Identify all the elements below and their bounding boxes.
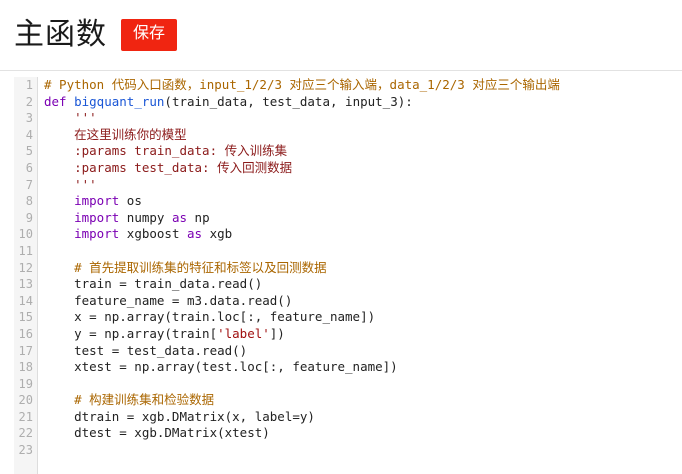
- code-line[interactable]: :params test_data: 传入回测数据: [44, 160, 682, 177]
- code-token-docstring: ''': [44, 177, 97, 192]
- code-token-string: 'label': [217, 326, 270, 341]
- code-token-keyword: as: [172, 210, 187, 225]
- line-number: 18: [14, 359, 33, 376]
- line-number: 6: [14, 160, 33, 177]
- code-token-keyword: import: [74, 193, 119, 208]
- code-line[interactable]: :params train_data: 传入训练集: [44, 143, 682, 160]
- code-token-plain: [67, 94, 75, 109]
- line-number: 12: [14, 260, 33, 277]
- code-token-plain: dtrain = xgb.DMatrix(x, label=y): [44, 409, 315, 424]
- code-line[interactable]: dtrain = xgb.DMatrix(x, label=y): [44, 409, 682, 426]
- code-token-plain: y = np.array(train[: [44, 326, 217, 341]
- code-token-plain: np: [187, 210, 210, 225]
- code-token-comment: # 首先提取训练集的特征和标签以及回测数据: [44, 260, 327, 275]
- code-token-keyword: import: [74, 226, 119, 241]
- line-number: 3: [14, 110, 33, 127]
- code-token-plain: xtest = np.array(test.loc[:, feature_nam…: [44, 359, 398, 374]
- code-line[interactable]: xtest = np.array(test.loc[:, feature_nam…: [44, 359, 682, 376]
- line-number: 5: [14, 143, 33, 160]
- code-token-plain: train = train_data.read(): [44, 276, 262, 291]
- code-line[interactable]: def bigquant_run(train_data, test_data, …: [44, 94, 682, 111]
- code-token-keyword: def: [44, 94, 67, 109]
- line-number: 16: [14, 326, 33, 343]
- code-token-plain: numpy: [119, 210, 172, 225]
- code-token-keyword: as: [187, 226, 202, 241]
- code-token-plain: [44, 226, 74, 241]
- code-token-docstring: ''': [44, 110, 97, 125]
- code-line[interactable]: [44, 376, 682, 393]
- line-number: 20: [14, 392, 33, 409]
- line-number: 9: [14, 210, 33, 227]
- code-line[interactable]: 在这里训练你的模型: [44, 127, 682, 144]
- code-token-plain: test = test_data.read(): [44, 343, 247, 358]
- code-line[interactable]: x = np.array(train.loc[:, feature_name]): [44, 309, 682, 326]
- line-number: 13: [14, 276, 33, 293]
- code-token-docstring: :params test_data: 传入回测数据: [44, 160, 292, 175]
- line-number-gutter: 1234567891011121314151617181920212223: [14, 77, 38, 474]
- code-token-plain: (train_data, test_data, input_3):: [164, 94, 412, 109]
- code-token-plain: [44, 193, 74, 208]
- code-token-docstring: 在这里训练你的模型: [44, 127, 187, 142]
- code-token-plain: xgboost: [119, 226, 187, 241]
- code-line[interactable]: train = train_data.read(): [44, 276, 682, 293]
- code-line[interactable]: [44, 442, 682, 459]
- code-line[interactable]: [44, 243, 682, 260]
- code-editor[interactable]: 1234567891011121314151617181920212223 # …: [0, 70, 682, 474]
- line-number: 1: [14, 77, 33, 94]
- code-editor-body[interactable]: 1234567891011121314151617181920212223 # …: [14, 71, 682, 474]
- save-button[interactable]: 保存: [121, 19, 177, 51]
- code-line[interactable]: # Python 代码入口函数，input_1/2/3 对应三个输入端，data…: [44, 77, 682, 94]
- code-token-plain: ]): [270, 326, 285, 341]
- editor-header: 主函数 保存: [0, 0, 682, 70]
- code-line[interactable]: import numpy as np: [44, 210, 682, 227]
- code-token-plain: [44, 210, 74, 225]
- code-line[interactable]: y = np.array(train['label']): [44, 326, 682, 343]
- code-token-keyword: import: [74, 210, 119, 225]
- line-number: 22: [14, 425, 33, 442]
- line-number: 15: [14, 309, 33, 326]
- line-number: 11: [14, 243, 33, 260]
- line-number: 2: [14, 94, 33, 111]
- code-token-comment: # Python 代码入口函数，input_1/2/3 对应三个输入端，data…: [44, 77, 560, 92]
- code-token-comment: # 构建训练集和检验数据: [44, 392, 214, 407]
- code-line[interactable]: # 构建训练集和检验数据: [44, 392, 682, 409]
- code-token-function: bigquant_run: [74, 94, 164, 109]
- code-token-plain: x = np.array(train.loc[:, feature_name]): [44, 309, 375, 324]
- page-title: 主函数: [14, 20, 107, 50]
- code-token-plain: xgb: [202, 226, 232, 241]
- code-token-plain: os: [119, 193, 142, 208]
- code-line[interactable]: ''': [44, 110, 682, 127]
- code-line[interactable]: import os: [44, 193, 682, 210]
- line-number: 4: [14, 127, 33, 144]
- code-line[interactable]: ''': [44, 177, 682, 194]
- line-number: 7: [14, 177, 33, 194]
- line-number: 21: [14, 409, 33, 426]
- code-token-plain: dtest = xgb.DMatrix(xtest): [44, 425, 270, 440]
- code-line[interactable]: test = test_data.read(): [44, 343, 682, 360]
- code-line[interactable]: # 首先提取训练集的特征和标签以及回测数据: [44, 260, 682, 277]
- line-number: 10: [14, 226, 33, 243]
- line-number: 8: [14, 193, 33, 210]
- code-line[interactable]: dtest = xgb.DMatrix(xtest): [44, 425, 682, 442]
- code-line[interactable]: feature_name = m3.data.read(): [44, 293, 682, 310]
- line-number: 14: [14, 293, 33, 310]
- line-number: 19: [14, 376, 33, 393]
- code-line[interactable]: import xgboost as xgb: [44, 226, 682, 243]
- line-number: 23: [14, 442, 33, 459]
- code-token-plain: feature_name = m3.data.read(): [44, 293, 292, 308]
- code-token-docstring: :params train_data: 传入训练集: [44, 143, 287, 158]
- code-content[interactable]: # Python 代码入口函数，input_1/2/3 对应三个输入端，data…: [38, 77, 682, 474]
- line-number: 17: [14, 343, 33, 360]
